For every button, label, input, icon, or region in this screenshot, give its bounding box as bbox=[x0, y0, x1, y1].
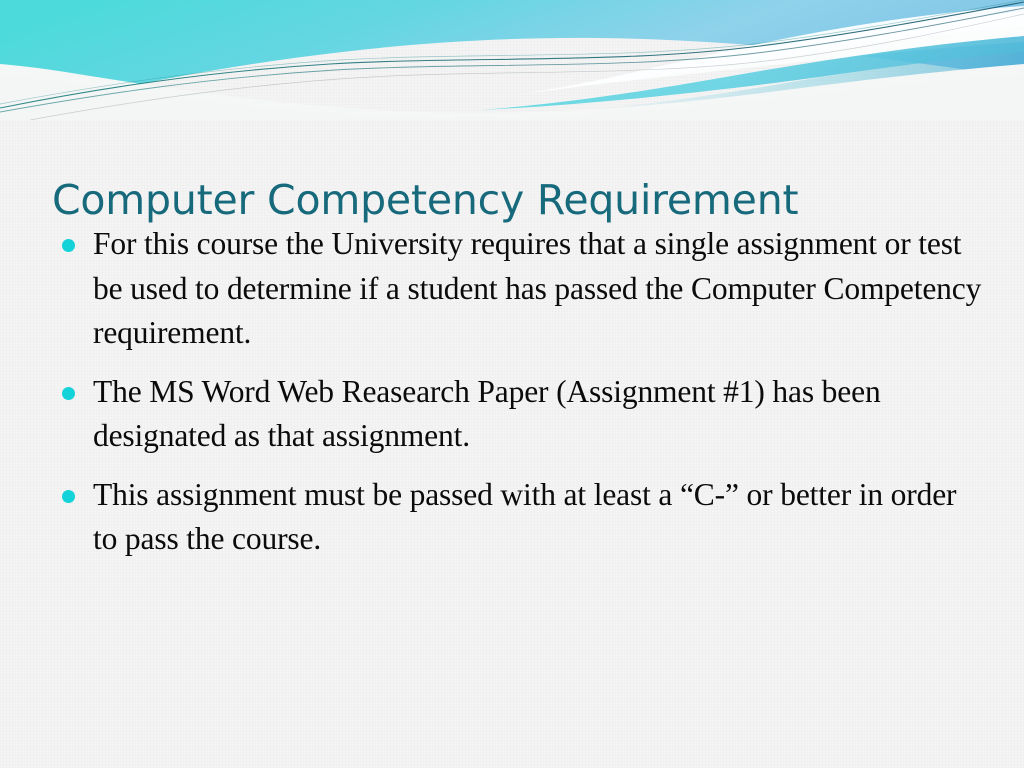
bullet-dot-icon bbox=[62, 387, 75, 400]
bullet-text: This assignment must be passed with at l… bbox=[93, 473, 986, 562]
bullet-dot-icon bbox=[62, 490, 75, 503]
bullet-text: For this course the University requires … bbox=[93, 222, 986, 356]
bullet-list: For this course the University requires … bbox=[56, 222, 986, 576]
bullet-list-item: The MS Word Web Reasearch Paper (Assignm… bbox=[56, 370, 986, 459]
bullet-text: The MS Word Web Reasearch Paper (Assignm… bbox=[93, 370, 986, 459]
bullet-list-item: For this course the University requires … bbox=[56, 222, 986, 356]
slide-title: Computer Competency Requirement bbox=[52, 177, 972, 224]
bullet-dot-icon bbox=[62, 239, 75, 252]
bullet-list-item: This assignment must be passed with at l… bbox=[56, 473, 986, 562]
wave-swoosh-banner bbox=[0, 0, 1024, 120]
slide: Computer Competency Requirement For this… bbox=[0, 0, 1024, 768]
